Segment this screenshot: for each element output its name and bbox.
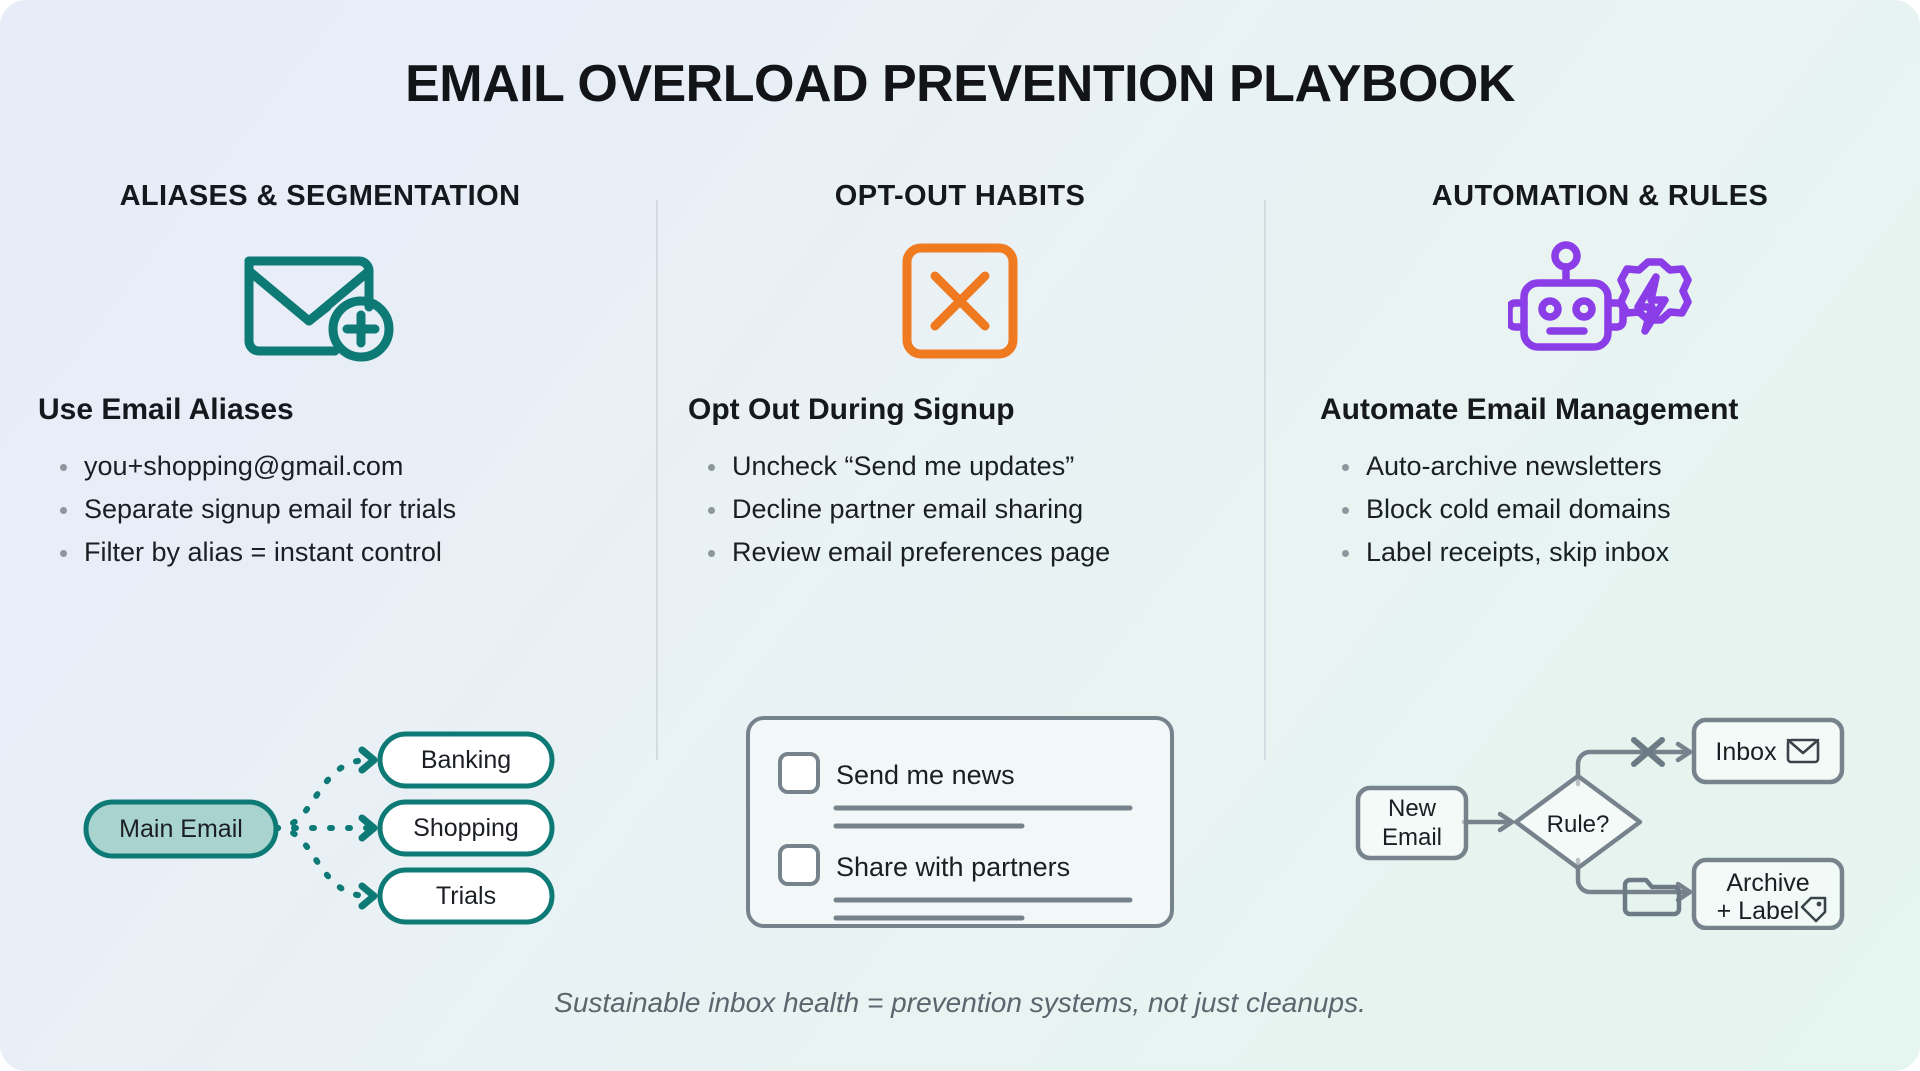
- robot-gear-icon: [1314, 235, 1886, 367]
- list-item: Decline partner email sharing: [708, 488, 1246, 531]
- column-heading: Opt Out During Signup: [674, 393, 1246, 427]
- flow-node-archive: Archive + Label: [1694, 860, 1842, 928]
- flow-decision-label: Rule?: [1547, 811, 1610, 838]
- flow-node-label-line2: + Label: [1717, 897, 1800, 925]
- connector-lines: [276, 760, 368, 896]
- list-item: Review email preferences page: [708, 531, 1246, 574]
- column-aliases-segmentation: ALIASES & SEGMENTATION Use Email Aliases…: [0, 180, 640, 940]
- flow-node-label-line1: Archive: [1726, 869, 1809, 897]
- target-pill-banking: Banking: [380, 734, 552, 786]
- checkbox-label: Share with partners: [836, 852, 1070, 882]
- checkbox-label: Send me news: [836, 760, 1015, 790]
- source-pill-label: Main Email: [119, 815, 243, 843]
- bullet-list: Uncheck “Send me updates” Decline partne…: [674, 445, 1246, 574]
- target-pill-label: Shopping: [413, 814, 519, 842]
- page-title: EMAIL OVERLOAD PREVENTION PLAYBOOK: [0, 54, 1920, 114]
- alias-fanout-diagram: Main Email Banking Shopping Trials: [0, 714, 640, 944]
- target-pill-trials: Trials: [380, 870, 552, 922]
- infographic-poster: EMAIL OVERLOAD PREVENTION PLAYBOOK ALIAS…: [0, 0, 1920, 1071]
- column-heading: Use Email Aliases: [34, 393, 606, 427]
- list-item: Block cold email domains: [1342, 488, 1886, 531]
- signup-form-card: Send me news Share with partners: [640, 714, 1280, 944]
- bullet-list: Auto-archive newsletters Block cold emai…: [1314, 445, 1886, 574]
- column-kicker: ALIASES & SEGMENTATION: [34, 180, 606, 213]
- columns-container: ALIASES & SEGMENTATION Use Email Aliases…: [0, 180, 1920, 940]
- source-pill: Main Email: [86, 802, 276, 856]
- target-pill-label: Trials: [436, 882, 496, 910]
- rule-flowchart-diagram: New Email Rule?: [1280, 714, 1920, 944]
- footer-note: Sustainable inbox health = prevention sy…: [0, 987, 1920, 1019]
- checkbox-x-icon: [674, 235, 1246, 367]
- list-item: Label receipts, skip inbox: [1342, 531, 1886, 574]
- column-opt-out-habits: OPT-OUT HABITS Opt Out During Signup Unc…: [640, 180, 1280, 940]
- flow-node-decision: Rule?: [1516, 776, 1640, 868]
- flow-node-label-line1: New: [1388, 795, 1437, 822]
- flow-node-inbox: Inbox: [1694, 720, 1842, 782]
- target-pill-shopping: Shopping: [380, 802, 552, 854]
- folder-marker-icon: [1625, 880, 1679, 914]
- flow-node-label-line2: Email: [1382, 824, 1442, 851]
- form-card-frame: [748, 718, 1172, 926]
- list-item: Filter by alias = instant control: [60, 531, 606, 574]
- column-kicker: OPT-OUT HABITS: [674, 180, 1246, 213]
- checkbox-share-with-partners: [780, 846, 818, 884]
- list-item: Auto-archive newsletters: [1342, 445, 1886, 488]
- list-item: Separate signup email for trials: [60, 488, 606, 531]
- envelope-plus-icon: [34, 235, 606, 367]
- flow-node-new-email: New Email: [1358, 788, 1466, 858]
- checkbox-send-me-news: [780, 754, 818, 792]
- column-heading: Automate Email Management: [1314, 393, 1886, 427]
- bullet-list: you+shopping@gmail.com Separate signup e…: [34, 445, 606, 574]
- target-pill-label: Banking: [421, 746, 511, 774]
- list-item: you+shopping@gmail.com: [60, 445, 606, 488]
- column-kicker: AUTOMATION & RULES: [1314, 180, 1886, 213]
- flow-node-label: Inbox: [1715, 738, 1777, 766]
- list-item: Uncheck “Send me updates”: [708, 445, 1246, 488]
- column-automation-rules: AUTOMATION & RULES: [1280, 180, 1920, 940]
